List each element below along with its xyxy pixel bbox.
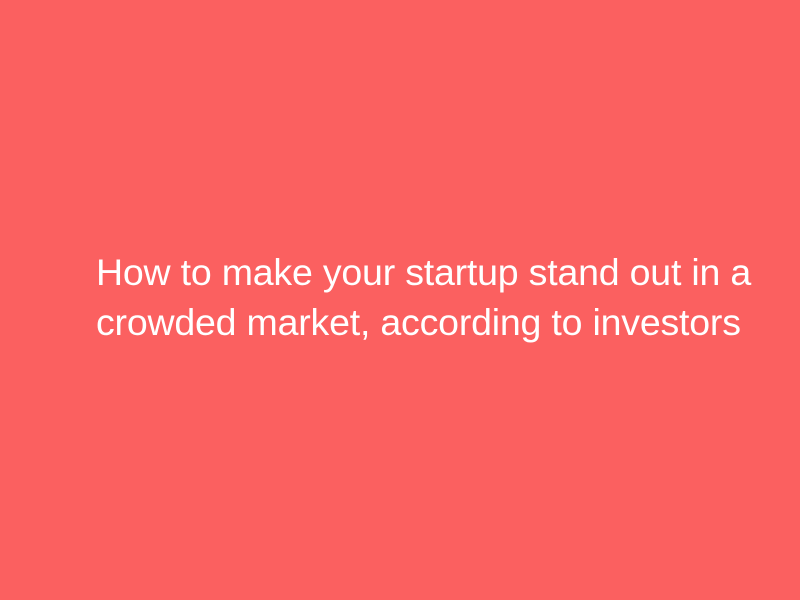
headline-line-1: How to make your startup stand out in a	[96, 247, 704, 297]
headline-line-2: crowded market, according to investors	[96, 297, 704, 347]
headline-block: How to make your startup stand out in a …	[80, 247, 720, 347]
article-header-card: How to make your startup stand out in a …	[0, 0, 800, 600]
